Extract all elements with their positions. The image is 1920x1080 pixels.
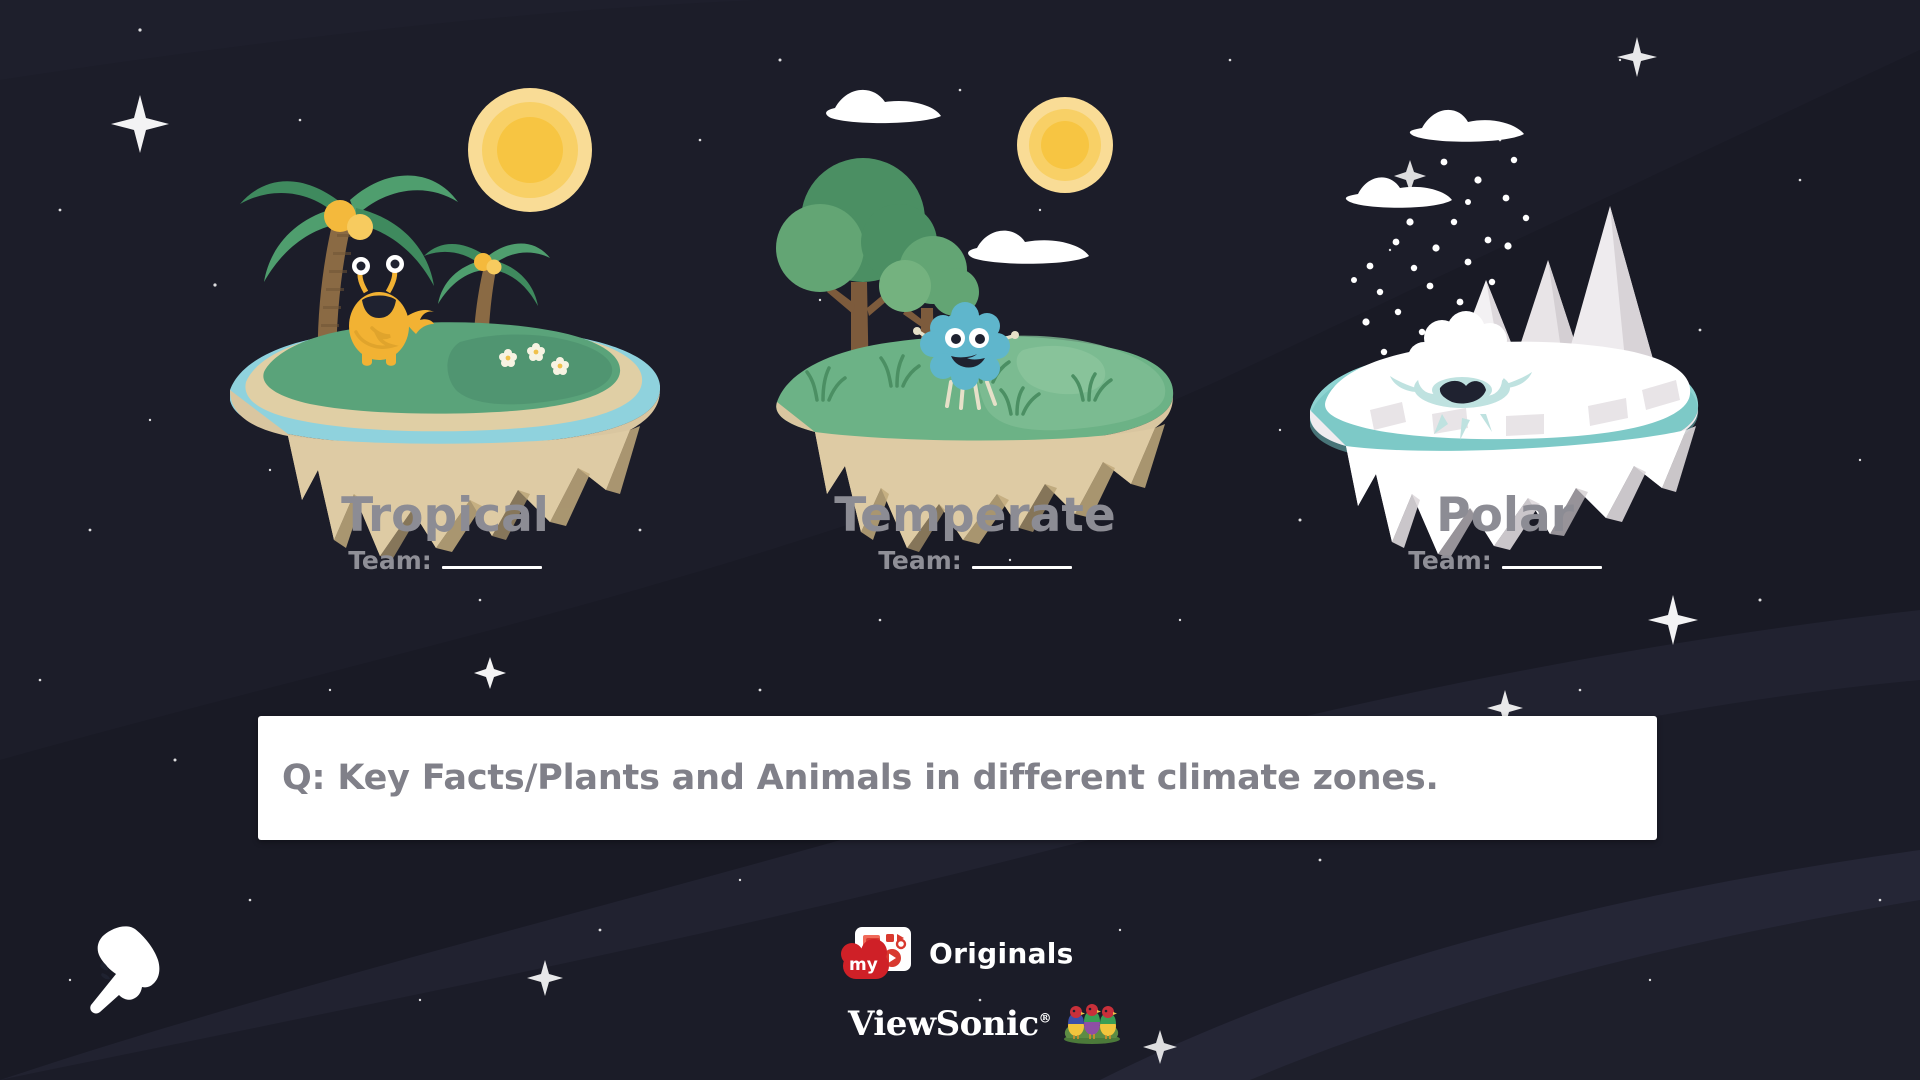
tropical-island-illustration [230, 70, 660, 560]
polar-island-illustration [1310, 70, 1700, 560]
cloud-icon [968, 231, 1089, 264]
sun-icon [468, 88, 592, 212]
zone-title: Polar [1310, 490, 1700, 542]
zone-label-temperate: Temperate Team: [775, 490, 1175, 575]
originals-branding: my Originals [843, 927, 1074, 979]
myviewboard-originals-icon: my [843, 927, 911, 979]
question-text: Q: Key Facts/Plants and Animals in diffe… [258, 758, 1439, 798]
cloud-icon [1346, 177, 1452, 207]
zone-tropical[interactable]: Tropical Team: [230, 70, 660, 560]
question-box[interactable]: Q: Key Facts/Plants and Animals in diffe… [258, 716, 1657, 840]
team-label: Team: [348, 546, 432, 575]
slide-canvas: Tropical Team: [0, 0, 1920, 1080]
team-entry-tropical[interactable]: Team: [230, 546, 660, 575]
zone-title: Temperate [775, 490, 1175, 542]
team-name-blank[interactable] [442, 566, 542, 569]
zone-label-polar: Polar Team: [1310, 490, 1700, 575]
team-label: Team: [878, 546, 962, 575]
temperate-island-illustration [775, 70, 1175, 560]
viewsonic-branding: ViewSonic® [848, 1004, 1123, 1044]
sun-icon [1017, 97, 1113, 193]
team-entry-polar[interactable]: Team: [1310, 546, 1700, 575]
cloud-icon [826, 90, 941, 123]
originals-label: Originals [929, 937, 1074, 970]
registered-mark: ® [1039, 1012, 1052, 1027]
zone-polar[interactable]: Polar Team: [1310, 70, 1700, 560]
cloud-icon [1410, 110, 1524, 142]
team-name-blank[interactable] [1502, 566, 1602, 569]
zone-title: Tropical [230, 490, 660, 542]
team-name-blank[interactable] [972, 566, 1072, 569]
pointing-hand-cursor-icon[interactable] [88, 926, 168, 1016]
team-entry-temperate[interactable]: Team: [775, 546, 1175, 575]
gouldian-finches-icon [1061, 1004, 1123, 1044]
my-badge-text: my [849, 955, 878, 975]
team-label: Team: [1408, 546, 1492, 575]
viewsonic-text: ViewSonic [848, 1004, 1039, 1044]
viewsonic-wordmark: ViewSonic® [848, 1004, 1051, 1044]
zone-temperate[interactable]: Temperate Team: [775, 70, 1175, 560]
zone-label-tropical: Tropical Team: [230, 490, 660, 575]
